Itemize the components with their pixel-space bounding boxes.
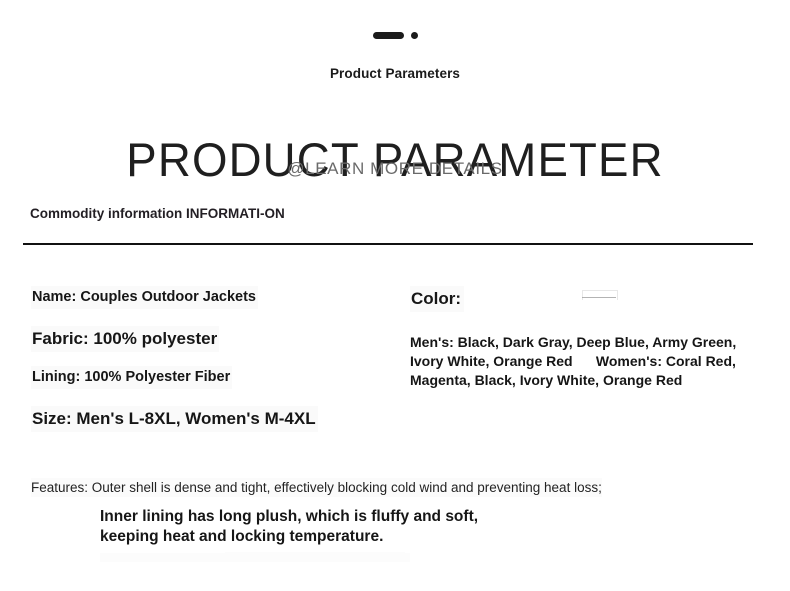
color-values: Men's: Black, Dark Gray, Deep Blue, Army…: [410, 333, 755, 390]
dot-icon: [411, 32, 418, 39]
header-decoration-mark: [0, 28, 790, 42]
page-subtitle: @LEARN MORE DETAILS: [0, 159, 790, 179]
scan-artifact: [582, 297, 616, 298]
scan-artifact: [225, 552, 405, 562]
spec-row-size: Size: Men's L-8XL, Women's M-4XL: [31, 406, 318, 432]
section-divider: [23, 243, 753, 245]
product-parameter-page: Product Parameters PRODUCT PARAMETER @LE…: [0, 0, 790, 591]
spec-row-lining: Lining: 100% Polyester Fiber: [31, 366, 232, 389]
color-label: Color:: [410, 286, 464, 312]
eyebrow-label: Product Parameters: [0, 66, 790, 81]
spec-column-right: Color: Men's: Black, Dark Gray, Deep Blu…: [410, 286, 760, 390]
section-heading: Commodity information INFORMATI-ON: [30, 205, 298, 222]
scan-artifact: [582, 290, 618, 300]
features-body: Inner lining has long plush, which is fl…: [100, 507, 500, 547]
features-intro: Features: Outer shell is dense and tight…: [31, 478, 602, 497]
dash-icon: [373, 32, 404, 39]
spec-column-left: Name: Couples Outdoor Jackets Fabric: 10…: [31, 286, 391, 432]
spec-row-name: Name: Couples Outdoor Jackets: [31, 286, 258, 309]
scan-artifact: [100, 553, 410, 562]
spec-row-fabric: Fabric: 100% polyester: [31, 326, 219, 352]
